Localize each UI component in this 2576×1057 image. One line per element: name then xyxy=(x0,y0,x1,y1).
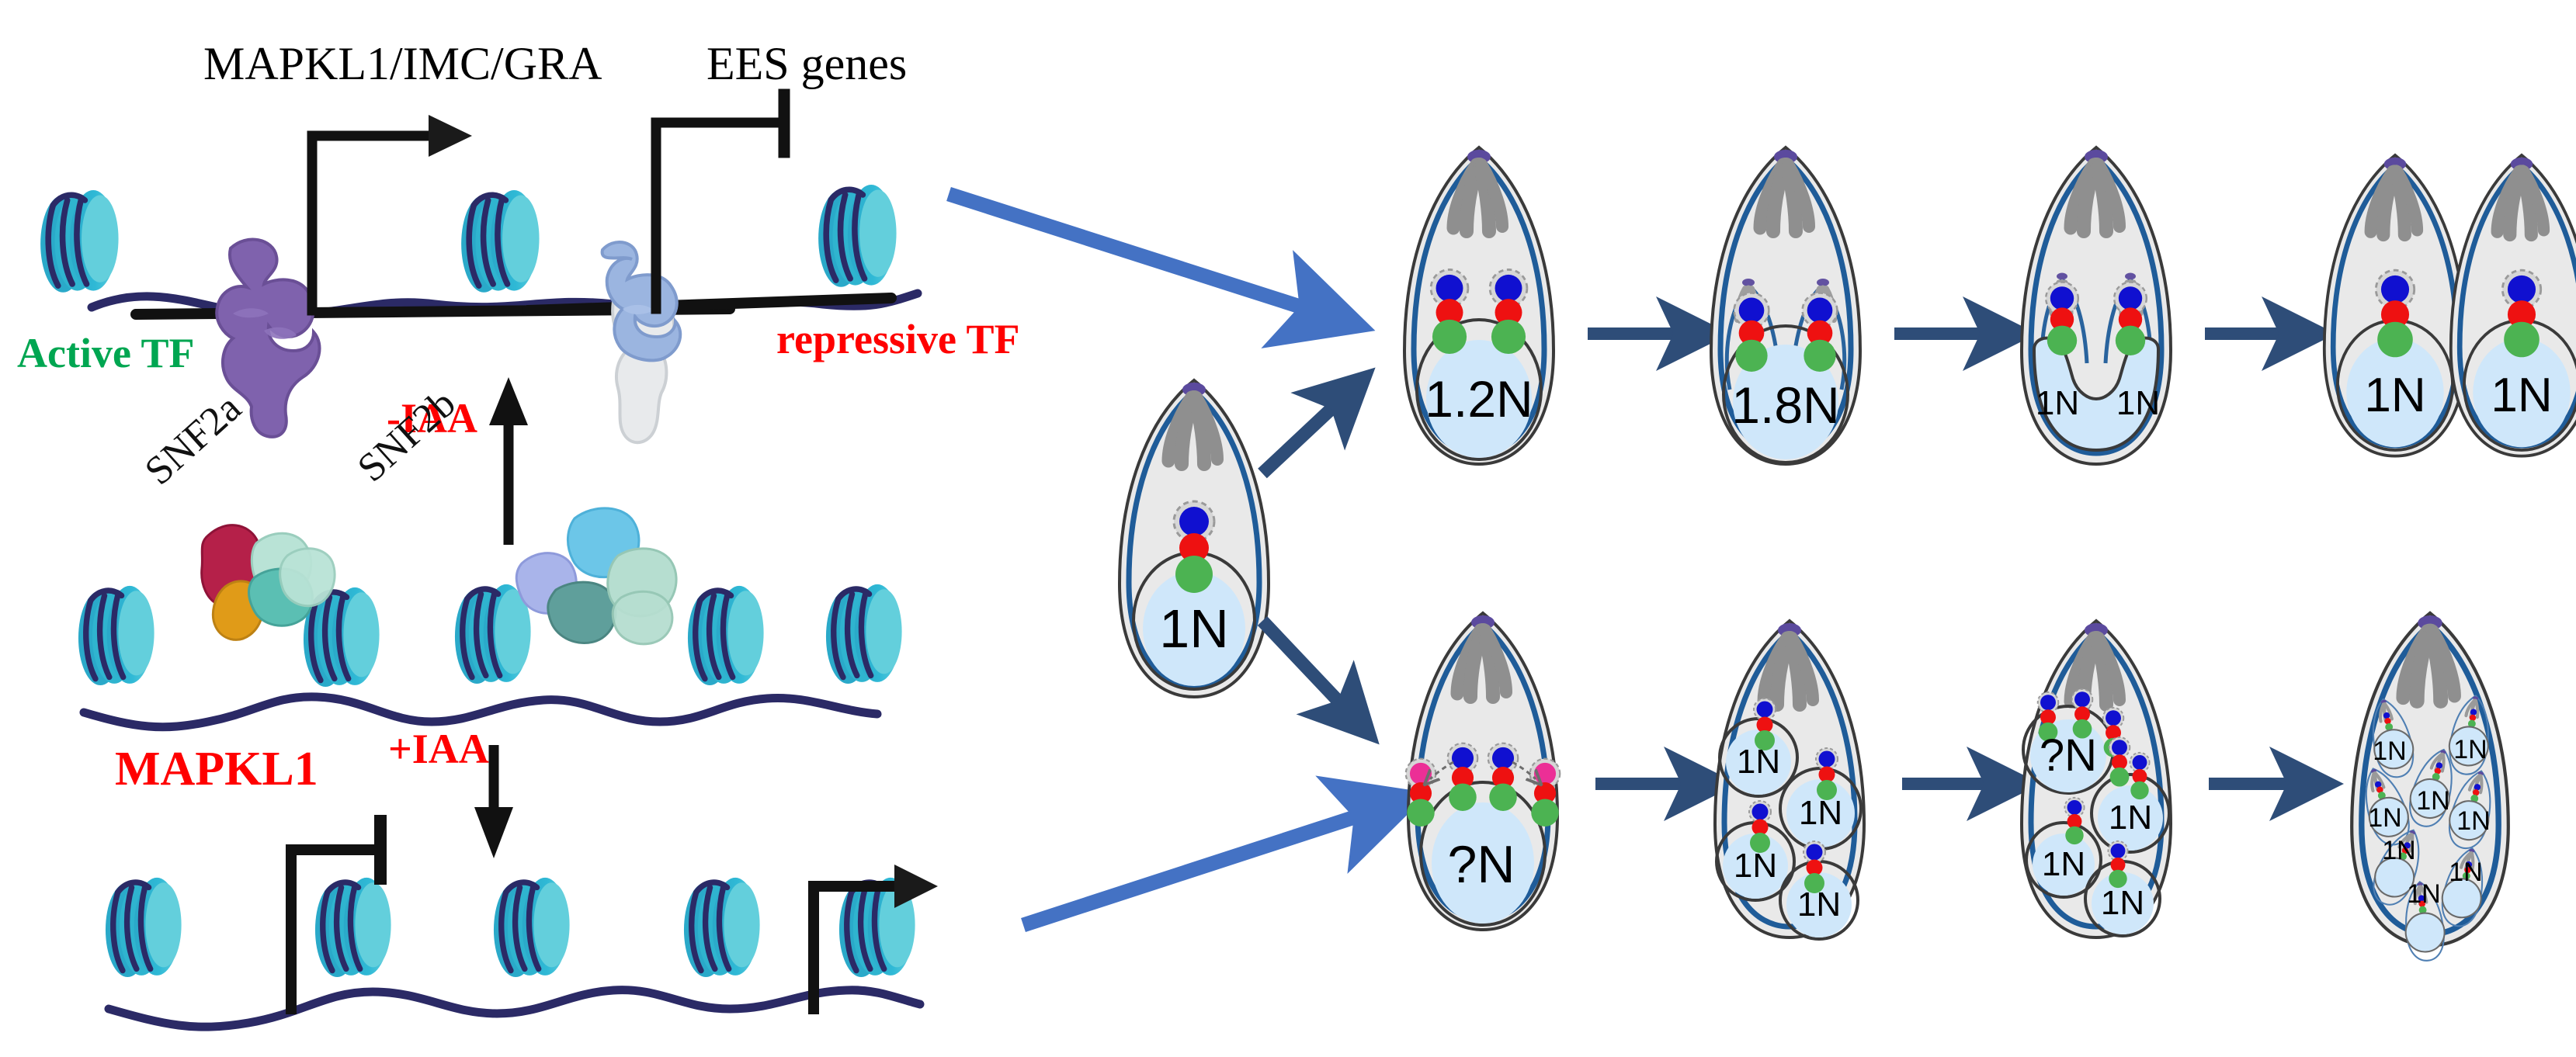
nucleus-label-b2-2: 1N xyxy=(1799,796,1842,830)
snf2b-complex xyxy=(516,508,676,644)
nucleosome xyxy=(315,878,391,977)
nucleosome xyxy=(839,878,915,977)
nucleus-label-sep-left: 1N xyxy=(2364,372,2425,420)
connector-arrow-top xyxy=(949,194,1312,310)
figure-svg xyxy=(0,0,2576,1057)
branch-arrows xyxy=(1262,404,1343,706)
nucleus-label-b4-6: 1N xyxy=(2382,837,2415,864)
nucleus-label-b3-2: 1N xyxy=(2109,801,2152,835)
nucleosome xyxy=(106,878,182,977)
nucleosome xyxy=(40,190,118,293)
nucleus-label-b4-2: 1N xyxy=(2453,736,2487,763)
nucleus-label-b4-3: 1N xyxy=(2416,788,2449,814)
repressive-tf-shape xyxy=(602,242,681,442)
nucleosome xyxy=(461,190,539,293)
nucleus-label-div-right: 1N xyxy=(2116,386,2160,421)
left-top-row-graphics xyxy=(40,95,918,442)
nucleus-label-b2-3: 1N xyxy=(1734,849,1777,883)
nucleosome xyxy=(304,587,380,687)
nucleus-label-qn: ?N xyxy=(1448,838,1515,891)
branch-arrow-up xyxy=(1262,404,1337,473)
figure-canvas: MAPKL1/IMC/GRA EES genes Active TF repre… xyxy=(0,0,2576,1057)
label-snf2a: SNF2a xyxy=(138,387,248,492)
nucleosome xyxy=(684,878,760,977)
nucleosome xyxy=(78,586,154,685)
nucleus-label-b4-5: 1N xyxy=(2456,808,2490,834)
branch-arrow-down xyxy=(1262,621,1343,706)
nucleus-label-b2-1: 1N xyxy=(1737,745,1780,779)
snf2a-complex xyxy=(202,525,335,640)
panel-connector-arrows xyxy=(949,194,1366,925)
label-gene-set-repressed: EES genes xyxy=(706,40,907,87)
nucleus-label-b3-3: 1N xyxy=(2042,847,2085,882)
connector-arrow-bottom xyxy=(1023,813,1366,925)
nucleus-label-b2-4: 1N xyxy=(1797,888,1841,922)
nucleosome xyxy=(494,878,570,977)
nucleus-label-start: 1N xyxy=(1159,601,1228,656)
nucleus-label-b4-1: 1N xyxy=(2373,738,2406,764)
nucleosome xyxy=(688,586,764,685)
nucleus-label-b4-7: 1N xyxy=(2449,859,2482,885)
nucleosome xyxy=(818,185,896,287)
nucleosome xyxy=(455,584,531,684)
nucleus-label-b4-4: 1N xyxy=(2368,805,2401,831)
label-gene-set-activated: MAPKL1/IMC/GRA xyxy=(203,40,602,87)
nucleus-label-1-8n: 1.8N xyxy=(1731,379,1839,431)
nucleosome xyxy=(826,584,902,684)
label-repressive-tf: repressive TF xyxy=(776,318,1019,360)
nucleus-label-b3-4: 1N xyxy=(2101,886,2144,920)
nucleus-label-1-2n: 1.2N xyxy=(1425,373,1533,425)
nucleus-label-sep-right: 1N xyxy=(2491,372,2552,420)
nucleus-label-b4-8: 1N xyxy=(2407,881,2440,907)
nucleus-label-div-left: 1N xyxy=(2036,386,2079,421)
label-mapkl1: MAPKL1 xyxy=(115,745,318,793)
label-active-tf: Active TF xyxy=(17,332,194,374)
nucleus-label-b3-qn: ?N xyxy=(2040,733,2097,778)
label-plus-iaa: +IAA xyxy=(388,728,489,770)
